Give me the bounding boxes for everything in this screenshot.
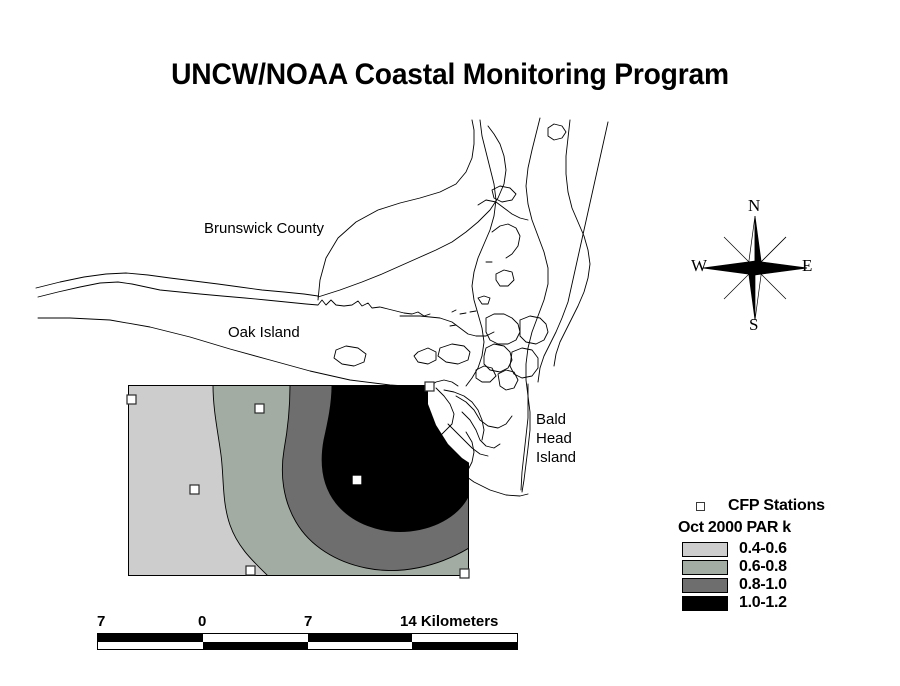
- legend-row-class-1: 0.4-0.6: [678, 540, 893, 558]
- marsh-channel-d: [492, 224, 520, 258]
- scale-cell-top-3: [308, 634, 413, 642]
- label-bald-head-line3: Island: [536, 448, 576, 467]
- scale-bar-labels: 7 0 7 14 Kilometers: [97, 613, 617, 631]
- legend-stations-label: CFP Stations: [728, 497, 825, 515]
- legend-swatch-0.8-1.0: [682, 578, 728, 593]
- par-k-raster-surface: [128, 385, 469, 576]
- label-bald-head-line1: Bald: [536, 410, 576, 429]
- station-marker-center-east: [353, 476, 361, 484]
- cape-fear-river-west-bank: [466, 120, 496, 386]
- scale-cell-bot-2: [203, 642, 308, 650]
- legend-row-class-4: 1.0-1.2: [678, 594, 893, 612]
- marsh-island-e: [496, 270, 514, 286]
- inland-waterway-north: [318, 126, 506, 297]
- legend-label-0.8-1.0: 0.8-1.0: [739, 576, 787, 594]
- barrier-island-inner-east: [554, 120, 590, 366]
- marsh-complex-5: [438, 344, 470, 364]
- marsh-island-a: [548, 124, 566, 140]
- map-legend: CFP Stations Oct 2000 PAR k 0.4-0.6 0.6-…: [678, 496, 893, 612]
- scale-cell-top-4: [412, 634, 517, 642]
- oak-island-inner-shore: [36, 273, 318, 296]
- brunswick-mainland-boundary: [318, 120, 474, 300]
- legend-swatch-0.4-0.6: [682, 542, 728, 557]
- label-oak-island: Oak Island: [228, 323, 300, 342]
- scale-cell-top-2: [203, 634, 308, 642]
- sunny-point-channel: [400, 316, 494, 336]
- marsh-fleck-i: [460, 313, 466, 314]
- label-brunswick-county: Brunswick County: [204, 219, 324, 238]
- scale-cell-bot-1: [98, 642, 203, 650]
- legend-title: Oct 2000 PAR k: [678, 519, 893, 537]
- scale-tick-label-2: 7: [304, 613, 312, 630]
- marsh-complex-6: [414, 348, 436, 364]
- legend-swatch-0.6-0.8: [682, 560, 728, 575]
- marsh-fleck-k: [450, 325, 456, 326]
- scale-tick-label-3-units: 14 Kilometers: [400, 613, 498, 630]
- scale-bar: 7 0 7 14 Kilometers: [97, 613, 617, 650]
- marsh-complex-2: [520, 316, 548, 344]
- legend-row-class-2: 0.6-0.8: [678, 558, 893, 576]
- marsh-fleck-j: [470, 311, 476, 312]
- marsh-complex-7: [334, 346, 366, 366]
- marsh-fleck-g: [478, 296, 490, 304]
- legend-label-0.6-0.8: 0.6-0.8: [739, 558, 787, 576]
- station-marker-nw-corner: [127, 395, 136, 404]
- scale-tick-label-1: 0: [198, 613, 206, 630]
- station-marker-west: [190, 485, 199, 494]
- marsh-complex-4: [510, 348, 538, 378]
- marsh-complex-3: [484, 344, 512, 372]
- marsh-channel-c: [478, 200, 528, 220]
- label-bald-head-line2: Head: [536, 429, 576, 448]
- oak-island-outer-shore: [38, 282, 430, 316]
- legend-row-class-3: 0.8-1.0: [678, 576, 893, 594]
- legend-label-1.0-1.2: 1.0-1.2: [739, 594, 787, 612]
- scale-tick-label-0: 7: [97, 613, 105, 630]
- scale-cell-bot-3: [308, 642, 413, 650]
- station-marker-se-corner: [460, 569, 469, 578]
- station-marker-south: [246, 566, 255, 575]
- label-bald-head-island: Bald Head Island: [536, 410, 576, 467]
- cfp-station-marker-icon: [696, 502, 705, 511]
- station-marker-north: [255, 404, 264, 413]
- scale-cell-top-1: [98, 634, 203, 642]
- inlet-detail-2: [476, 366, 496, 382]
- scale-bar-graphic: [97, 633, 518, 650]
- scale-cell-bot-4: [412, 642, 517, 650]
- station-marker-ne-inlet: [425, 382, 434, 391]
- legend-stations-row: CFP Stations: [678, 496, 893, 516]
- legend-swatch-1.0-1.2: [682, 596, 728, 611]
- compass-label-east: E: [802, 256, 812, 276]
- barrier-island-outer-east: [538, 122, 608, 382]
- marsh-fleck-h: [452, 310, 456, 312]
- compass-label-north: N: [748, 196, 760, 216]
- compass-rose: N S E W: [692, 198, 818, 340]
- page-title: UNCW/NOAA Coastal Monitoring Program: [27, 58, 873, 92]
- marsh-complex-1: [486, 314, 520, 344]
- compass-label-south: S: [749, 315, 758, 335]
- legend-label-0.4-0.6: 0.4-0.6: [739, 540, 787, 558]
- compass-label-west: W: [691, 256, 707, 276]
